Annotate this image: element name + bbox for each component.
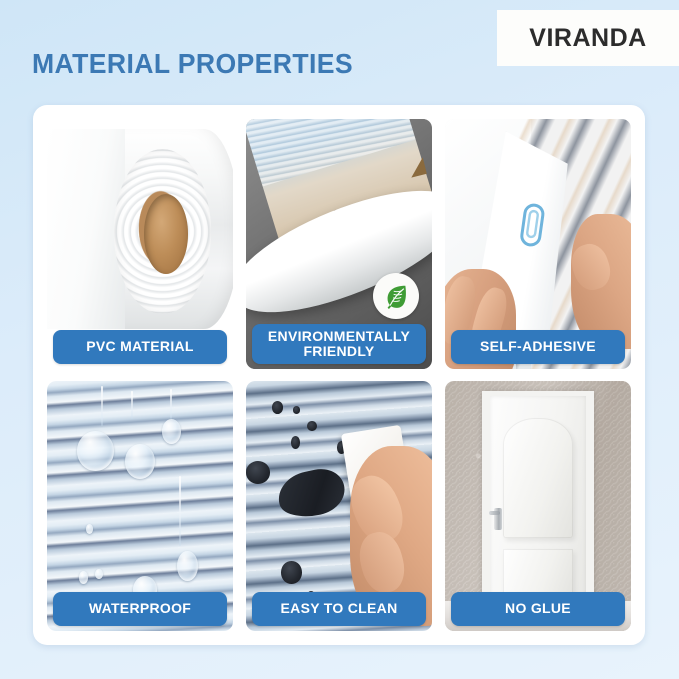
water-droplet bbox=[177, 551, 197, 581]
water-droplet bbox=[86, 524, 93, 534]
feature-tile-environmentally-friendly[interactable]: ENVIRONMENTALLY FRIENDLY bbox=[246, 119, 432, 369]
feature-label-no-glue: NO GLUE bbox=[451, 592, 625, 626]
water-droplet bbox=[95, 569, 102, 579]
dirt-smear bbox=[274, 465, 349, 523]
door-leaf bbox=[490, 396, 587, 611]
brand-logo-text: VIRANDA bbox=[529, 24, 646, 53]
feature-tile-pvc-material[interactable]: PVC MATERIAL bbox=[47, 119, 233, 369]
dirt-spot bbox=[293, 406, 300, 414]
feature-tile-self-adhesive[interactable]: SELF-ADHESIVE bbox=[445, 119, 631, 369]
dirt-spot bbox=[291, 436, 300, 449]
door-panel-top bbox=[503, 418, 573, 538]
drip-trail bbox=[179, 476, 181, 546]
roll-cardboard-core bbox=[144, 194, 189, 274]
feature-tile-waterproof[interactable]: WATERPROOF bbox=[47, 381, 233, 631]
dirt-spot bbox=[272, 401, 283, 414]
drip-trail bbox=[101, 386, 103, 426]
dirt-spot bbox=[281, 561, 301, 584]
door-panel-bottom bbox=[503, 549, 573, 598]
water-droplet bbox=[77, 431, 114, 471]
feature-tile-no-glue[interactable]: NO GLUE bbox=[445, 381, 631, 631]
eco-roll-tip bbox=[407, 157, 427, 177]
feature-label-waterproof: WATERPROOF bbox=[53, 592, 227, 626]
right-hand bbox=[571, 214, 631, 349]
feature-label-easy-to-clean: EASY TO CLEAN bbox=[252, 592, 426, 626]
water-droplet bbox=[162, 419, 181, 444]
feature-grid: PVC MATERIAL bbox=[47, 119, 631, 631]
water-droplet bbox=[125, 444, 155, 479]
feature-label-environmentally-friendly: ENVIRONMENTALLY FRIENDLY bbox=[252, 324, 426, 364]
drip-trail bbox=[170, 389, 172, 419]
dirt-spot bbox=[307, 421, 316, 431]
brand-logo-box: VIRANDA bbox=[497, 10, 679, 66]
door-handle bbox=[494, 508, 502, 530]
drip-trail bbox=[131, 391, 133, 419]
feature-card: PVC MATERIAL bbox=[33, 105, 645, 645]
feature-label-self-adhesive: SELF-ADHESIVE bbox=[451, 330, 625, 364]
feature-tile-easy-to-clean[interactable]: EASY TO CLEAN bbox=[246, 381, 432, 631]
dirt-spot bbox=[246, 461, 270, 484]
leaf-icon bbox=[373, 273, 419, 319]
water-droplet bbox=[79, 571, 88, 584]
feature-label-pvc-material: PVC MATERIAL bbox=[53, 330, 227, 364]
material-properties-infographic: VIRANDA MATERIAL PROPERTIES PVC MATERIAL bbox=[0, 0, 679, 679]
page-title: MATERIAL PROPERTIES bbox=[32, 48, 353, 80]
